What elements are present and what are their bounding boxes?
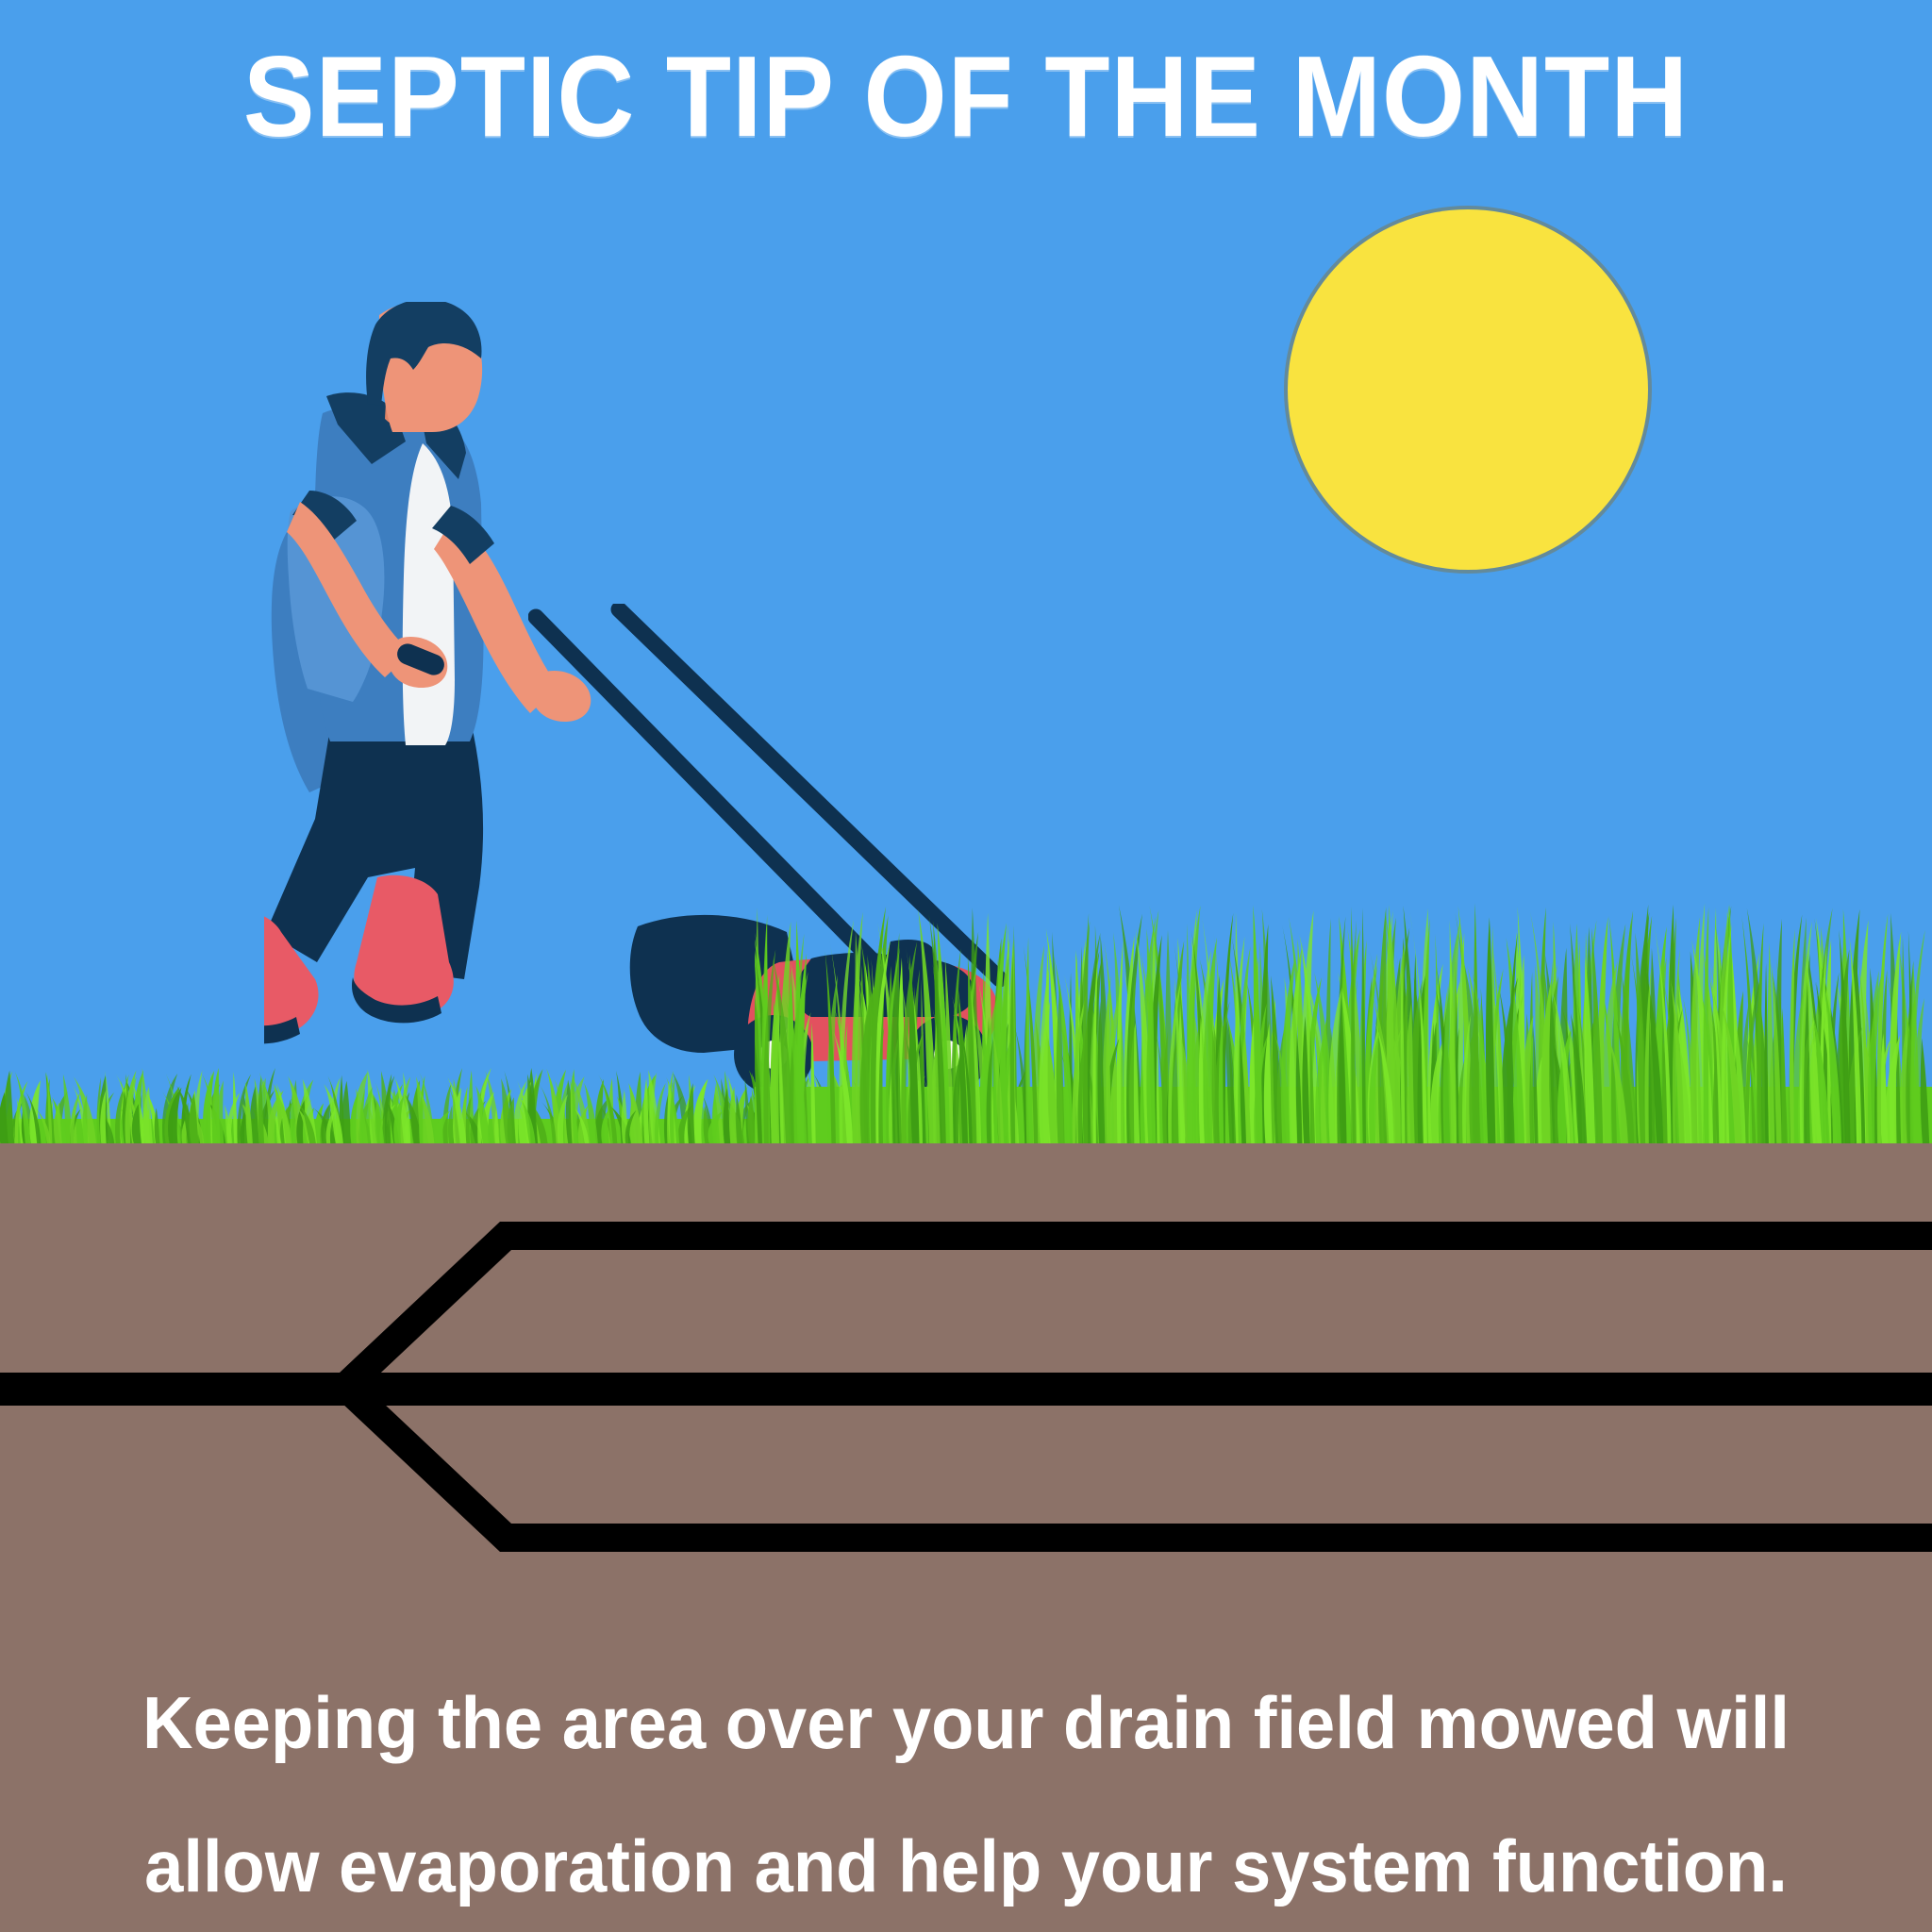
tall-unmowed-grass (755, 896, 1932, 1143)
sun-icon (1288, 209, 1648, 570)
page-title: SEPTIC TIP OF THE MONTH (68, 36, 1865, 157)
grass-blades-right (755, 896, 1932, 1143)
drain-field-pipes (0, 1143, 1932, 1672)
pipe-main-line (0, 1373, 1932, 1406)
caption-text: Keeping the area over your drain field m… (48, 1651, 1884, 1932)
poster: SEPTIC TIP OF THE MONTH (0, 0, 1932, 1932)
